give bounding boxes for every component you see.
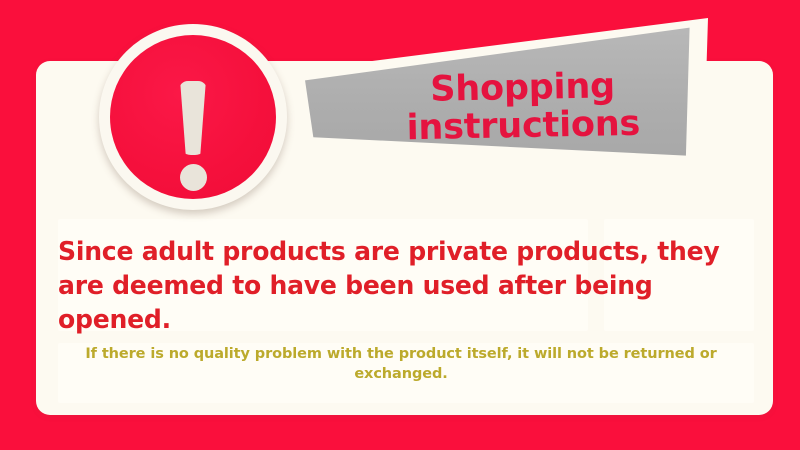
title-banner: Shopping instructions (248, 18, 708, 178)
exclamation-stem (179, 81, 207, 155)
exclamation-dot (180, 164, 207, 191)
subtitle-text: If there is no quality problem with the … (62, 345, 740, 384)
banner-title-text: Shopping instructions (357, 67, 688, 149)
exclamation-warning-icon (110, 35, 276, 199)
body-text: Since adult products are private product… (58, 236, 724, 337)
notice-slide: Shopping instructions Since adult produc… (0, 0, 800, 450)
warning-badge (99, 24, 287, 210)
